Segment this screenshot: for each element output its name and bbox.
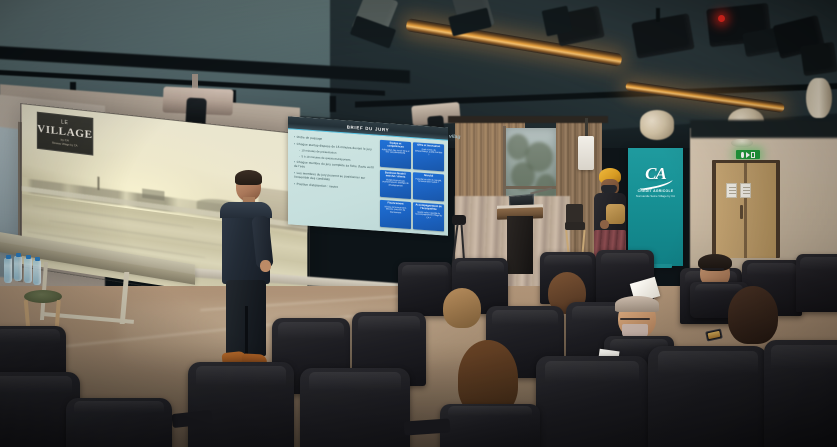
criteria-box: Business Model / marché / clients Modèle…: [380, 170, 411, 200]
bottle-cap: [6, 255, 11, 259]
banner-line-1: CRÉDIT AGRICOLE: [628, 189, 683, 193]
logo-sub2-text: Réseau Village by CA: [52, 143, 77, 149]
water-bottle[interactable]: [33, 260, 41, 285]
audience-hair: [728, 286, 778, 344]
water-bottle[interactable]: [4, 258, 12, 283]
exit-sign: [736, 150, 760, 159]
slide-title: BRIEF DU JURY: [347, 124, 390, 132]
criteria-box: Equipe et compétences Adéquation des sav…: [380, 140, 411, 170]
slide-body: •Ordre de passage •Chaque startup dispos…: [288, 129, 448, 235]
theater-seat[interactable]: [536, 356, 648, 447]
door-handle[interactable]: [740, 205, 743, 219]
auditorium-photo: LE VILLAGE by CA Réseau Village by CA BR…: [0, 0, 837, 447]
bottle-cap: [35, 257, 40, 261]
presenter-leg-gap: [245, 306, 248, 356]
presenter: [214, 172, 276, 366]
eyeglasses: [702, 268, 724, 270]
water-bottle[interactable]: [14, 256, 22, 281]
eyeglasses: [620, 318, 650, 320]
criteria-text: Modèle économique, positionnement, strat…: [382, 179, 410, 188]
theater-seat[interactable]: [440, 404, 540, 447]
attendee-hand: [600, 220, 609, 229]
stage-light-fixture: [540, 8, 618, 58]
audience-hair: [615, 296, 659, 312]
theater-seat[interactable]: [648, 346, 768, 447]
criteria-text: Quelle valeur ajoutée de l'accompagnemen…: [415, 211, 443, 220]
water-bottle[interactable]: [24, 258, 32, 283]
bullet-text: Les membres du jury peuvent se positionn…: [294, 171, 365, 181]
bottle-cap: [26, 255, 31, 259]
criteria-box: Marché Potentiel et taille du marché, le…: [413, 172, 444, 202]
ceiling-lamp: [731, 139, 753, 147]
stage-light-fixture: [448, 0, 512, 42]
stage-light-fixture: [772, 18, 836, 84]
slide-bullet-column: •Ordre de passage •Chaque startup dispos…: [288, 129, 379, 231]
door-notice: [740, 183, 751, 198]
arrow-icon: [746, 152, 750, 158]
door-glyph-icon: [751, 152, 755, 158]
wall-speaker: [578, 136, 594, 170]
theater-seat[interactable]: [796, 254, 837, 312]
indicator-light-red: [718, 15, 725, 22]
bar-stool-back: [566, 204, 583, 224]
criteria-box: Offre et innovation Quel niveau de diffé…: [413, 142, 444, 172]
bottle-cap: [16, 253, 21, 257]
slide-brand-mark: vilag: [449, 134, 460, 141]
theater-seat[interactable]: [66, 398, 172, 447]
audience-hair: [443, 288, 481, 328]
stage-light-fixture: [630, 14, 710, 74]
criteria-text: Quel niveau de différenciation, quelle b…: [415, 148, 443, 157]
ceiling-duct: [640, 110, 674, 140]
ceiling-duct: [806, 78, 832, 118]
credit-agricole-banner: CA CRÉDIT AGRICOLE Normandie Seine Villa…: [628, 148, 683, 266]
slide-criteria-grid: Equipe et compétences Adéquation des sav…: [379, 136, 448, 236]
bullet-text: Ordre de passage: [297, 135, 323, 141]
village-logo: LE VILLAGE by CA Réseau Village by CA: [37, 112, 94, 156]
bar-stool-seat[interactable]: [565, 222, 585, 230]
track-hook: [330, 96, 336, 112]
presenter-hair: [235, 170, 262, 185]
bullet-text: Position d'abstention : neutre: [297, 182, 339, 189]
presenter-hand: [260, 260, 271, 272]
wall-shadow-right: [690, 120, 837, 138]
cathedral-spire: [97, 177, 99, 190]
criteria-box: Accompagnement de l'écosystème Quelle va…: [413, 202, 444, 232]
criteria-box: Financement Niveau de financement, besoi…: [380, 200, 411, 230]
criteria-text: Niveau de financement, besoins, parcours…: [382, 206, 410, 215]
ceiling-beam: [448, 116, 608, 123]
criteria-text: Adéquation des savoir-faire et leur comp…: [382, 149, 410, 156]
theater-seat[interactable]: [188, 362, 294, 447]
door-notice: [726, 183, 737, 198]
theater-seat[interactable]: [300, 368, 410, 447]
theater-seat[interactable]: [764, 340, 837, 447]
shoulder-bag: [606, 204, 625, 224]
criteria-text: Potentiel et taille du marché, le besoin…: [415, 178, 443, 185]
running-man-icon: [741, 152, 744, 158]
speaker-mount: [585, 118, 588, 138]
stage-light-fixture: [352, 0, 412, 50]
lectern-column: [507, 216, 533, 274]
secondary-slide-screen: BRIEF DU JURY •Ordre de passage •Chaque …: [288, 116, 448, 235]
banner-line-2: Normandie Seine Village by CA: [628, 195, 683, 199]
camera-head: [452, 215, 466, 225]
door-center-split: [744, 163, 747, 258]
